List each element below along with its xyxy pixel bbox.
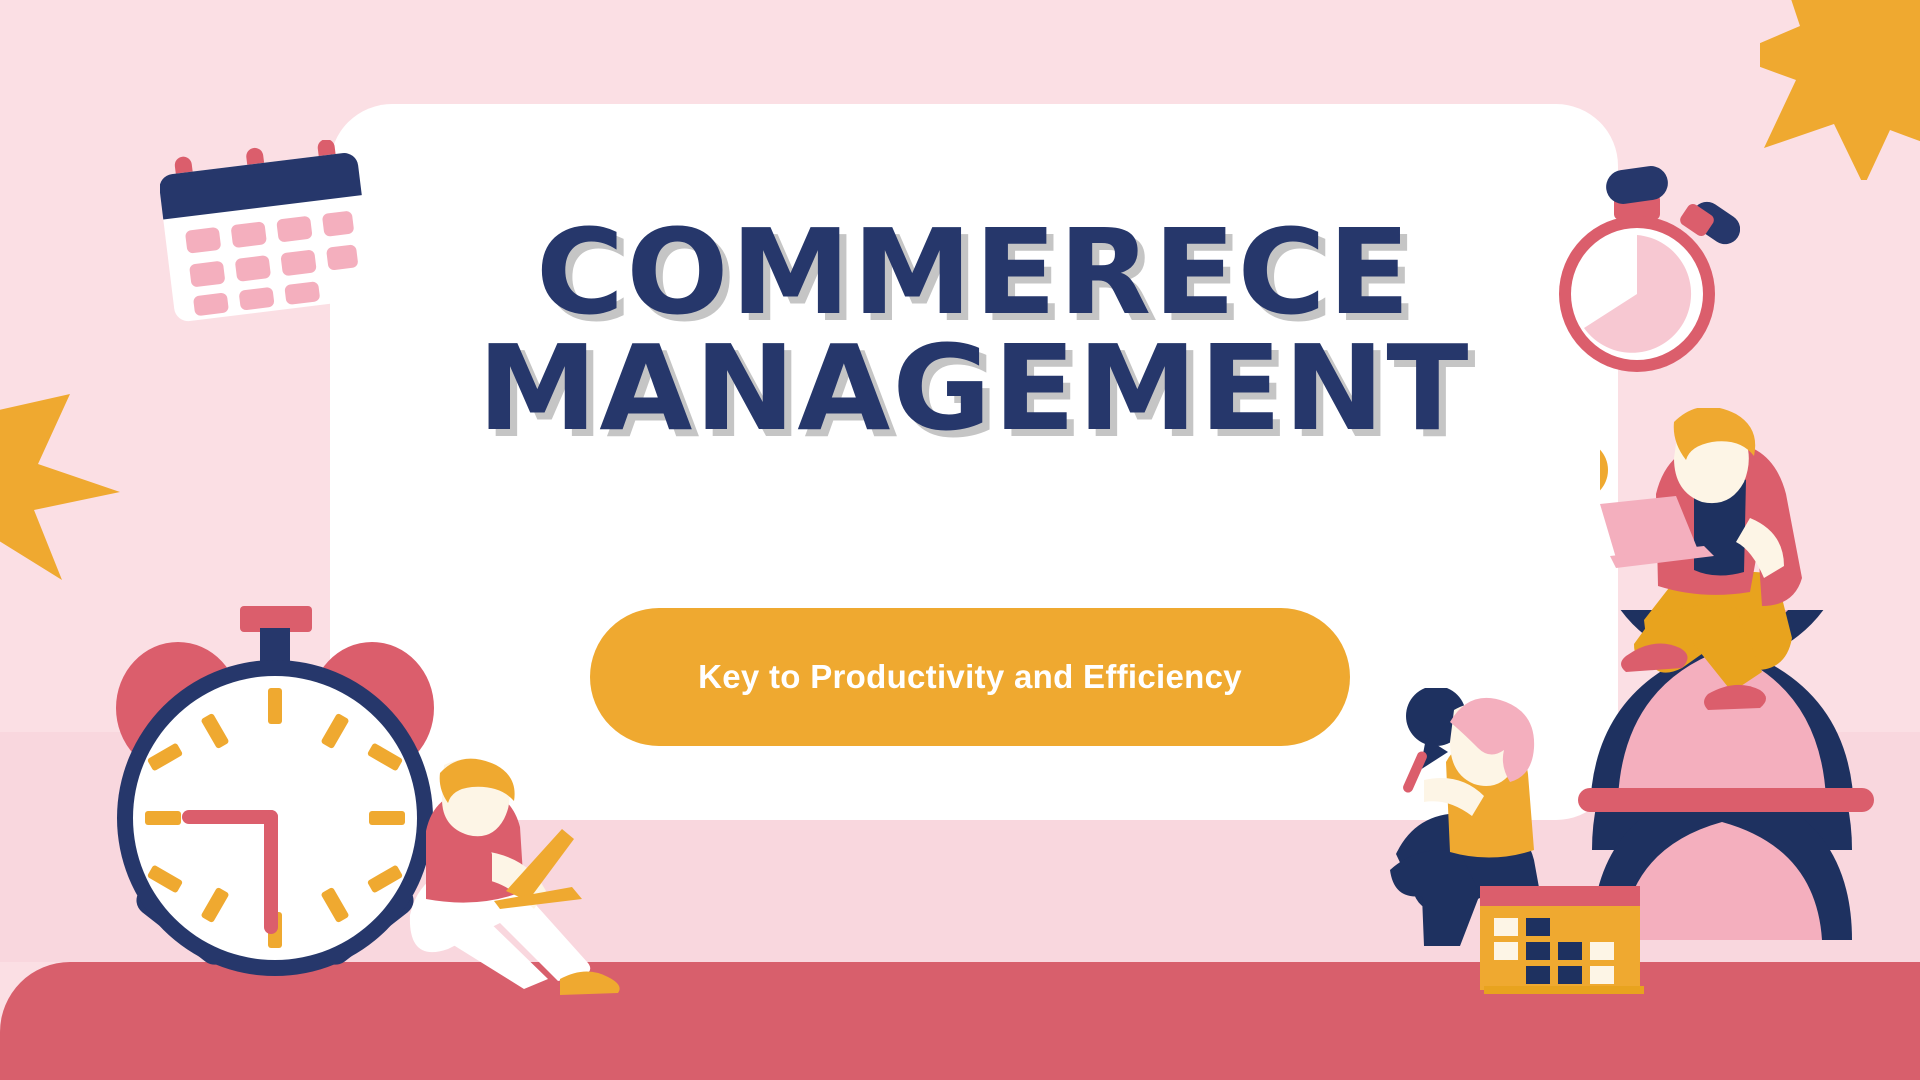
title-line-2: MANAGEMENT <box>317 331 1631 447</box>
subtitle-pill[interactable]: Key to Productivity and Efficiency <box>590 608 1350 746</box>
person-with-laptop <box>400 755 670 1005</box>
calendar-block-icon <box>1478 886 1646 996</box>
alarm-clock-icon <box>100 590 450 1000</box>
person-on-hourglass <box>1600 408 1900 738</box>
star-burst-top-right-icon <box>1760 0 1920 180</box>
star-burst-left-icon <box>0 340 122 580</box>
subtitle-text: Key to Productivity and Efficiency <box>698 658 1242 696</box>
slide-canvas: COMMERECE MANAGEMENT Key to Productivity… <box>0 0 1920 1080</box>
page-title: COMMERECE MANAGEMENT <box>317 215 1631 446</box>
